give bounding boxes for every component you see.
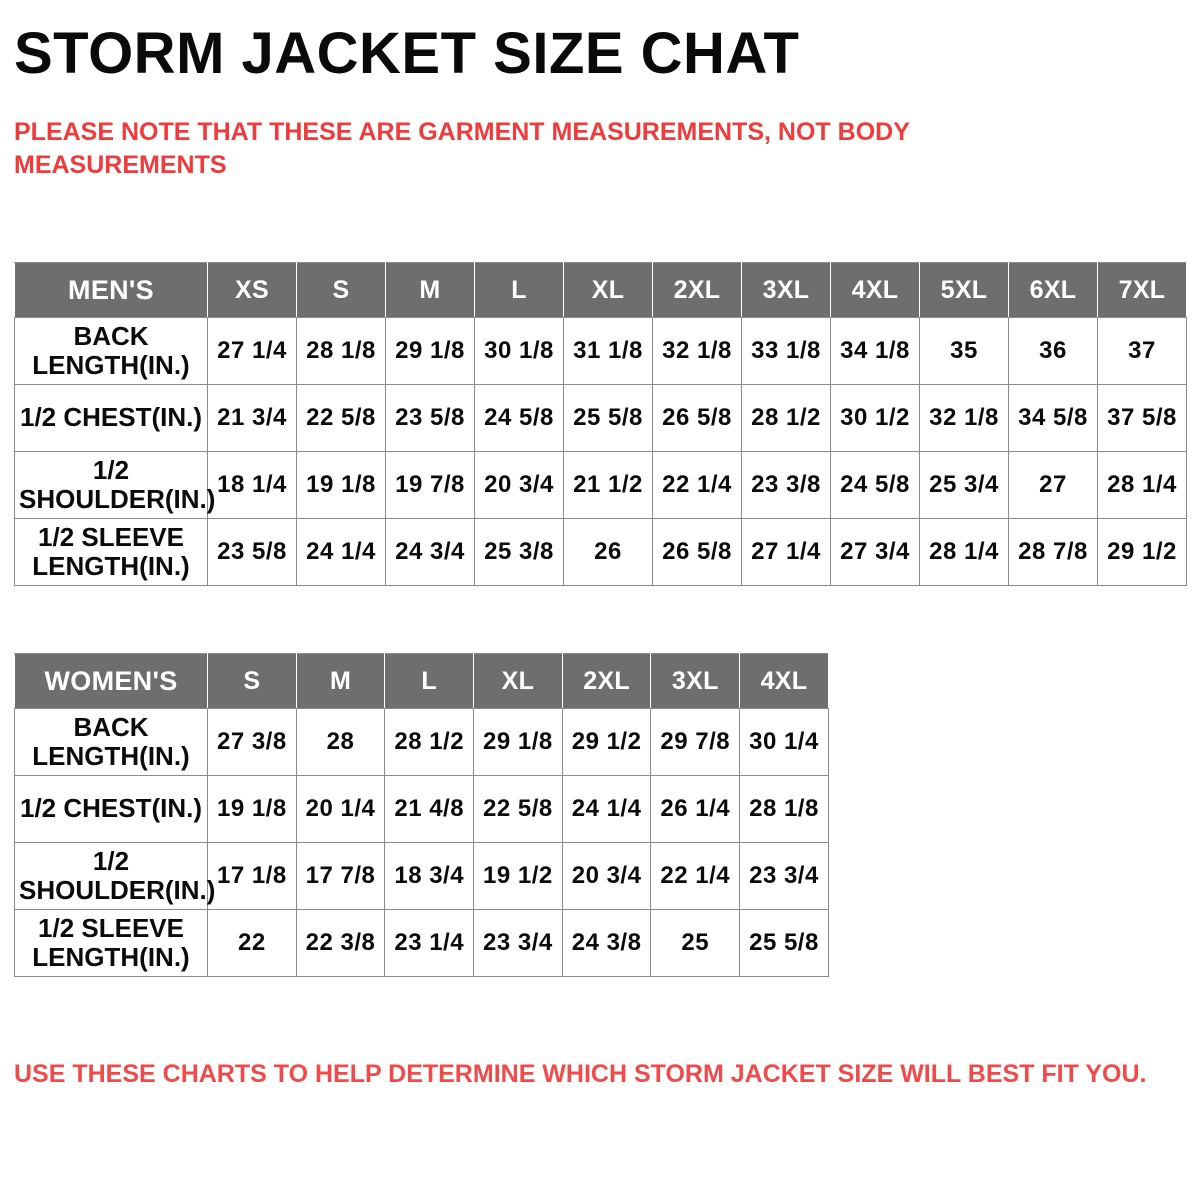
measurement-cell: 23 5/8 bbox=[208, 519, 297, 586]
measurement-cell: 27 1/4 bbox=[208, 318, 297, 385]
measurement-cell: 37 bbox=[1098, 318, 1187, 385]
measurement-cell: 24 1/4 bbox=[562, 776, 651, 843]
row-label: 1/2 SLEEVE LENGTH(IN.) bbox=[15, 519, 208, 586]
measurement-cell: 28 1/8 bbox=[740, 776, 829, 843]
measurement-cell: 28 7/8 bbox=[1009, 519, 1098, 586]
measurement-cell: 25 bbox=[651, 910, 740, 977]
measurement-cell: 32 1/8 bbox=[653, 318, 742, 385]
measurement-cell: 26 5/8 bbox=[653, 519, 742, 586]
measurement-cell: 25 3/4 bbox=[920, 452, 1009, 519]
table-row: 1/2 SHOULDER(IN.)17 1/817 7/818 3/419 1/… bbox=[15, 843, 829, 910]
column-header-3xl: 3XL bbox=[742, 263, 831, 318]
measurement-cell: 17 7/8 bbox=[296, 843, 385, 910]
measurement-cell: 26 1/4 bbox=[651, 776, 740, 843]
measurement-cell: 28 bbox=[296, 709, 385, 776]
column-header-m: M bbox=[296, 654, 385, 709]
table-row: BACK LENGTH(IN.)27 1/428 1/829 1/830 1/8… bbox=[15, 318, 1187, 385]
measurement-cell: 17 1/8 bbox=[208, 843, 297, 910]
measurement-cell: 29 1/8 bbox=[386, 318, 475, 385]
measurement-cell: 27 bbox=[1009, 452, 1098, 519]
measurement-cell: 22 3/8 bbox=[296, 910, 385, 977]
measurement-cell: 28 1/4 bbox=[1098, 452, 1187, 519]
measurement-cell: 19 1/8 bbox=[297, 452, 386, 519]
mens-header-row: MEN'SXSSMLXL2XL3XL4XL5XL6XL7XL bbox=[15, 263, 1187, 318]
table-row: BACK LENGTH(IN.)27 3/82828 1/229 1/829 1… bbox=[15, 709, 829, 776]
measurement-cell: 26 5/8 bbox=[653, 385, 742, 452]
measurement-cell: 28 1/2 bbox=[742, 385, 831, 452]
measurement-cell: 27 3/8 bbox=[208, 709, 297, 776]
measurement-cell: 25 5/8 bbox=[740, 910, 829, 977]
row-label: 1/2 SHOULDER(IN.) bbox=[15, 452, 208, 519]
measurement-cell: 36 bbox=[1009, 318, 1098, 385]
measurement-cell: 28 1/8 bbox=[297, 318, 386, 385]
measurement-cell: 30 1/4 bbox=[740, 709, 829, 776]
measurement-cell: 22 5/8 bbox=[297, 385, 386, 452]
measurement-cell: 18 1/4 bbox=[208, 452, 297, 519]
measurement-cell: 29 1/8 bbox=[474, 709, 563, 776]
measurement-cell: 25 3/8 bbox=[475, 519, 564, 586]
row-label: 1/2 CHEST(IN.) bbox=[15, 385, 208, 452]
table-row: 1/2 SHOULDER(IN.)18 1/419 1/819 7/820 3/… bbox=[15, 452, 1187, 519]
column-header-s: S bbox=[297, 263, 386, 318]
column-header-xl: XL bbox=[474, 654, 563, 709]
column-header-3xl: 3XL bbox=[651, 654, 740, 709]
womens-size-table: WOMEN'SSMLXL2XL3XL4XL BACK LENGTH(IN.)27… bbox=[14, 653, 829, 977]
measurement-cell: 30 1/2 bbox=[831, 385, 920, 452]
womens-corner-label: WOMEN'S bbox=[15, 654, 208, 709]
mens-corner-label: MEN'S bbox=[15, 263, 208, 318]
column-header-xs: XS bbox=[208, 263, 297, 318]
measurement-cell: 19 7/8 bbox=[386, 452, 475, 519]
measurement-cell: 28 1/4 bbox=[920, 519, 1009, 586]
measurement-cell: 19 1/2 bbox=[474, 843, 563, 910]
measurement-cell: 19 1/8 bbox=[208, 776, 297, 843]
measurement-cell: 29 7/8 bbox=[651, 709, 740, 776]
column-header-6xl: 6XL bbox=[1009, 263, 1098, 318]
column-header-xl: XL bbox=[564, 263, 653, 318]
measurement-cell: 33 1/8 bbox=[742, 318, 831, 385]
row-label: BACK LENGTH(IN.) bbox=[15, 709, 208, 776]
measurement-cell: 22 1/4 bbox=[653, 452, 742, 519]
measurement-cell: 21 3/4 bbox=[208, 385, 297, 452]
measurement-cell: 28 1/2 bbox=[385, 709, 474, 776]
measurement-cell: 20 3/4 bbox=[562, 843, 651, 910]
measurement-cell: 22 bbox=[208, 910, 297, 977]
womens-table-head: WOMEN'SSMLXL2XL3XL4XL bbox=[15, 654, 829, 709]
measurement-cell: 29 1/2 bbox=[1098, 519, 1187, 586]
measurement-cell: 31 1/8 bbox=[564, 318, 653, 385]
column-header-2xl: 2XL bbox=[562, 654, 651, 709]
use-charts-note: USE THESE CHARTS TO HELP DETERMINE WHICH… bbox=[14, 1058, 1174, 1091]
measurement-cell: 23 3/4 bbox=[740, 843, 829, 910]
column-header-4xl: 4XL bbox=[740, 654, 829, 709]
measurement-cell: 32 1/8 bbox=[920, 385, 1009, 452]
measurement-cell: 24 5/8 bbox=[831, 452, 920, 519]
measurement-cell: 34 5/8 bbox=[1009, 385, 1098, 452]
table-row: 1/2 CHEST(IN.)19 1/820 1/421 4/822 5/824… bbox=[15, 776, 829, 843]
measurement-cell: 21 1/2 bbox=[564, 452, 653, 519]
womens-table-body: BACK LENGTH(IN.)27 3/82828 1/229 1/829 1… bbox=[15, 709, 829, 977]
row-label: 1/2 CHEST(IN.) bbox=[15, 776, 208, 843]
column-header-s: S bbox=[208, 654, 297, 709]
page-title: STORM JACKET SIZE CHAT bbox=[14, 24, 799, 85]
measurement-cell: 34 1/8 bbox=[831, 318, 920, 385]
measurement-cell: 22 5/8 bbox=[474, 776, 563, 843]
measurement-cell: 22 1/4 bbox=[651, 843, 740, 910]
measurement-cell: 35 bbox=[920, 318, 1009, 385]
mens-size-table: MEN'SXSSMLXL2XL3XL4XL5XL6XL7XL BACK LENG… bbox=[14, 262, 1187, 586]
row-label: BACK LENGTH(IN.) bbox=[15, 318, 208, 385]
measurement-cell: 25 5/8 bbox=[564, 385, 653, 452]
table-row: 1/2 SLEEVE LENGTH(IN.)23 5/824 1/424 3/4… bbox=[15, 519, 1187, 586]
measurement-cell: 20 3/4 bbox=[475, 452, 564, 519]
column-header-7xl: 7XL bbox=[1098, 263, 1187, 318]
measurement-cell: 30 1/8 bbox=[475, 318, 564, 385]
column-header-m: M bbox=[386, 263, 475, 318]
column-header-l: L bbox=[385, 654, 474, 709]
measurement-cell: 27 3/4 bbox=[831, 519, 920, 586]
mens-table-head: MEN'SXSSMLXL2XL3XL4XL5XL6XL7XL bbox=[15, 263, 1187, 318]
measurement-cell: 24 3/8 bbox=[562, 910, 651, 977]
row-label: 1/2 SHOULDER(IN.) bbox=[15, 843, 208, 910]
measurement-cell: 18 3/4 bbox=[385, 843, 474, 910]
measurement-cell: 23 3/8 bbox=[742, 452, 831, 519]
measurement-cell: 20 1/4 bbox=[296, 776, 385, 843]
measurement-cell: 21 4/8 bbox=[385, 776, 474, 843]
womens-header-row: WOMEN'SSMLXL2XL3XL4XL bbox=[15, 654, 829, 709]
measurement-cell: 24 1/4 bbox=[297, 519, 386, 586]
measurement-cell: 23 1/4 bbox=[385, 910, 474, 977]
measurement-cell: 27 1/4 bbox=[742, 519, 831, 586]
measurement-cell: 23 5/8 bbox=[386, 385, 475, 452]
measurement-cell: 29 1/2 bbox=[562, 709, 651, 776]
row-label: 1/2 SLEEVE LENGTH(IN.) bbox=[15, 910, 208, 977]
measurement-cell: 24 3/4 bbox=[386, 519, 475, 586]
column-header-l: L bbox=[475, 263, 564, 318]
measurement-cell: 26 bbox=[564, 519, 653, 586]
column-header-5xl: 5XL bbox=[920, 263, 1009, 318]
garment-measurement-note: PLEASE NOTE THAT THESE ARE GARMENT MEASU… bbox=[14, 116, 974, 182]
table-row: 1/2 CHEST(IN.)21 3/422 5/823 5/824 5/825… bbox=[15, 385, 1187, 452]
column-header-2xl: 2XL bbox=[653, 263, 742, 318]
measurement-cell: 24 5/8 bbox=[475, 385, 564, 452]
mens-table-body: BACK LENGTH(IN.)27 1/428 1/829 1/830 1/8… bbox=[15, 318, 1187, 586]
size-chart-page: STORM JACKET SIZE CHAT PLEASE NOTE THAT … bbox=[0, 0, 1200, 1200]
measurement-cell: 37 5/8 bbox=[1098, 385, 1187, 452]
column-header-4xl: 4XL bbox=[831, 263, 920, 318]
measurement-cell: 23 3/4 bbox=[474, 910, 563, 977]
table-row: 1/2 SLEEVE LENGTH(IN.)2222 3/823 1/423 3… bbox=[15, 910, 829, 977]
